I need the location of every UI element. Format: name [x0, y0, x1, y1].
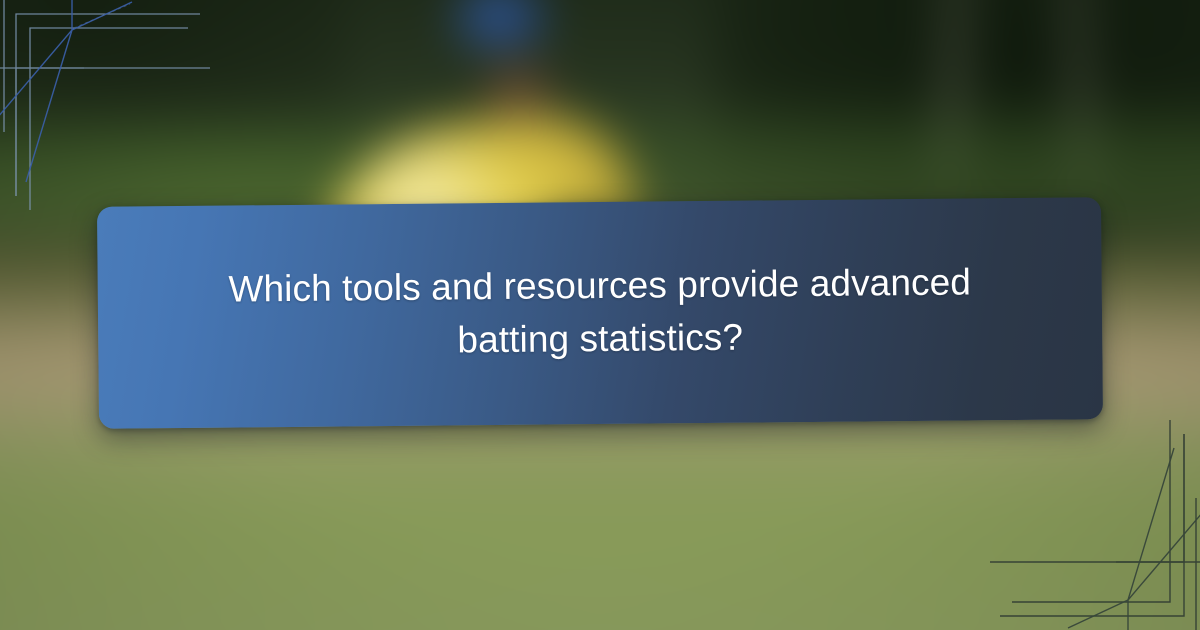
- question-text: Which tools and resources provide advanc…: [210, 257, 991, 370]
- question-card-banner: Which tools and resources provide advanc…: [0, 0, 1200, 630]
- question-card: Which tools and resources provide advanc…: [97, 197, 1103, 429]
- question-card-content: Which tools and resources provide advanc…: [97, 197, 1103, 429]
